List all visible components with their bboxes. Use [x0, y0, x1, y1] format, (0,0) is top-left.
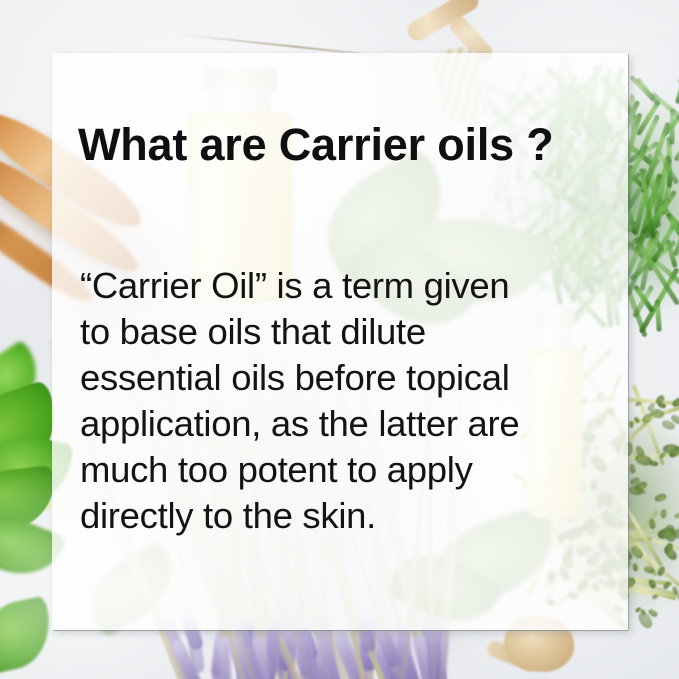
paragraph-line-3: essential oils before topical — [80, 355, 610, 401]
thyme-leaf — [629, 420, 633, 427]
infographic-canvas: What are Carrier oils ? “Carrier Oil” is… — [0, 0, 679, 679]
paragraph-line-5: much too potent to apply — [80, 447, 610, 493]
page-title: What are Carrier oils ? — [78, 122, 554, 167]
paragraph-line-4: application, as the latter are — [80, 401, 610, 447]
text-card-panel: What are Carrier oils ? “Carrier Oil” is… — [52, 53, 628, 630]
paragraph-line-6: directly to the skin. — [80, 493, 610, 539]
text-card-content: What are Carrier oils ? “Carrier Oil” is… — [52, 53, 628, 630]
paragraph-line-2: to base oils that dilute — [80, 309, 610, 355]
rosemary-needle — [669, 108, 675, 145]
paragraph-line-1: “Carrier Oil” is a term given — [80, 263, 610, 309]
body-paragraph: “Carrier Oil” is a term given to base oi… — [80, 263, 610, 539]
thyme-leaf — [663, 443, 678, 453]
